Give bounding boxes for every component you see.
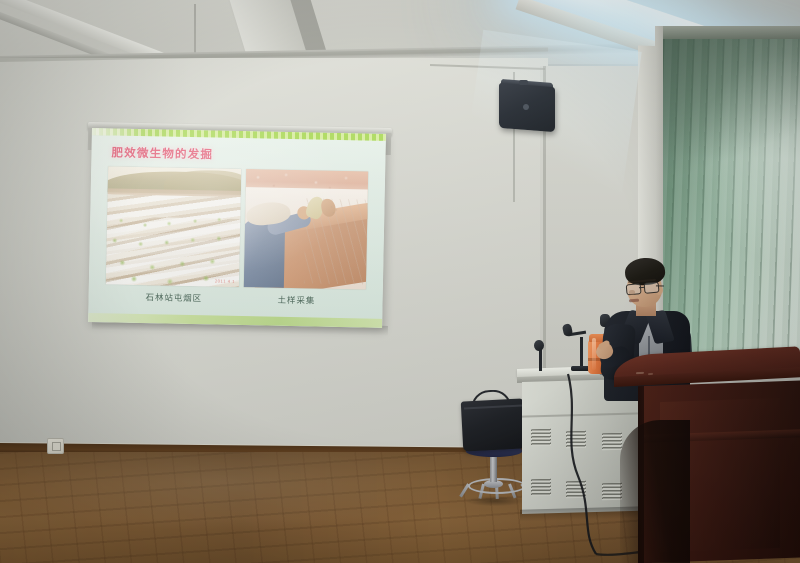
slide-title: 肥效微生物的发掘 — [111, 144, 213, 162]
wall-switch[interactable] — [47, 438, 64, 454]
cabinet-vent — [531, 479, 551, 497]
presentation-slide: 肥效微生物的发掘 2011 4 1 — [88, 128, 386, 328]
speaker-driver — [523, 104, 529, 110]
stool-footring — [468, 478, 526, 494]
photo-projection-wash — [106, 166, 241, 287]
glasses-temple — [656, 285, 664, 287]
room-photo-scene: 肥效微生物的发掘 2011 4 1 — [0, 0, 800, 563]
glasses-lens-right — [644, 282, 660, 294]
cabinet-vent — [602, 483, 622, 501]
caption-right: 土样采集 — [277, 294, 315, 307]
slide-captions: 石林站屯烟区 土样采集 — [105, 290, 365, 315]
speaker-mount-knob — [519, 80, 528, 85]
presenter-nose — [629, 290, 635, 295]
blind-headrail[interactable] — [663, 26, 800, 39]
slide-photo-sampling — [244, 169, 368, 289]
slide-photo-group: 2011 4 1 — [106, 166, 368, 289]
cabinet-vent — [566, 481, 586, 499]
cabinet-vent — [531, 429, 551, 447]
blind-shadow — [663, 36, 800, 196]
cabinet-vent — [566, 431, 586, 449]
microphone-head[interactable] — [534, 340, 544, 351]
lectern-fitting — [648, 373, 653, 375]
lectern-shadow-side — [620, 420, 690, 563]
light-hanger-rod — [194, 4, 196, 56]
projection-screen: 肥效微生物的发掘 2011 4 1 — [88, 128, 386, 328]
lectern-fitting — [636, 372, 644, 374]
photo-projection-wash — [244, 169, 368, 289]
slide-photo-field: 2011 4 1 — [106, 166, 241, 287]
cabinet-vent — [602, 433, 622, 451]
screen-bracket-right — [386, 133, 391, 155]
caption-left: 石林站屯烟区 — [145, 291, 202, 304]
